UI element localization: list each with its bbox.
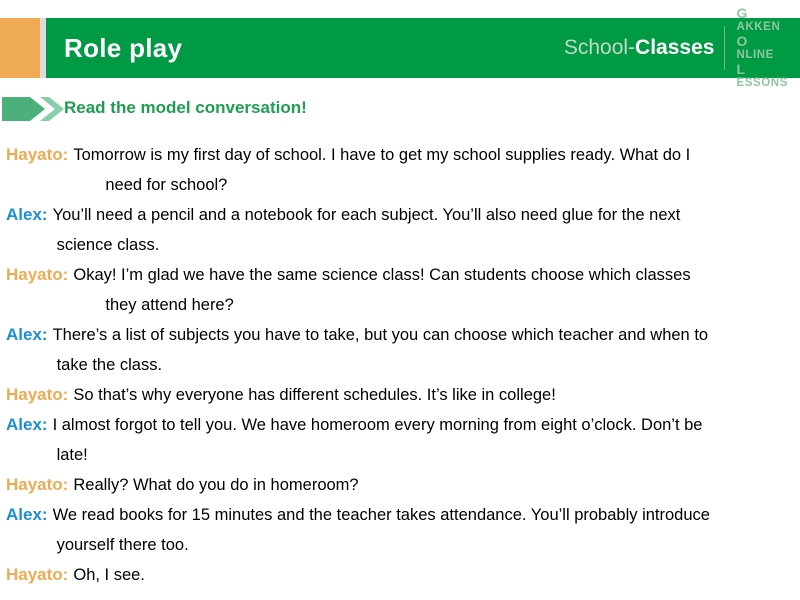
dialogue-line-continued: science class. [53,230,792,260]
dialogue-text: Really? What do you do in homeroom? [73,470,792,500]
page-header: Role play School-Classes GAKKEN ONLINE L… [0,18,800,78]
dialogue-line: You’ll need a pencil and a notebook for … [53,206,681,224]
speaker-label-alex: Alex: [6,500,53,530]
speaker-label-hayato: Hayato: [6,260,73,290]
conversation-block: Hayato:Tomorrow is my first day of schoo… [0,140,800,590]
dialogue-line: There’s a list of subjects you have to t… [53,326,709,344]
speaker-label-hayato: Hayato: [6,140,73,170]
dialogue-line: Really? What do you do in homeroom? [73,476,358,494]
dialogue-turn: Hayato:Okay! I’m glad we have the same s… [0,260,800,320]
dialogue-turn: Hayato:Oh, I see. [0,560,800,590]
speaker-label-alex: Alex: [6,320,53,350]
dialogue-line-continued: take the class. [53,350,792,380]
dialogue-turn: Alex:You’ll need a pencil and a notebook… [0,200,800,260]
speaker-label-alex: Alex: [6,410,53,440]
dialogue-turn: Alex:I almost forgot to tell you. We hav… [0,410,800,470]
brand-block: School-Classes GAKKEN ONLINE LESSONS [564,18,800,78]
logo-line-online: ONLINE [736,34,788,62]
course-prefix: School- [564,36,635,59]
dialogue-text: You’ll need a pencil and a notebook for … [53,200,792,260]
instruction-row: Read the model conversation! [0,93,800,127]
dialogue-turn: Alex:We read books for 15 minutes and th… [0,500,800,560]
page-title: Role play [64,31,182,65]
dialogue-line: Okay! I’m glad we have the same science … [73,266,690,284]
dialogue-text: Okay! I’m glad we have the same science … [73,260,792,320]
dialogue-line-continued: late! [53,440,792,470]
logo-line-gakken: GAKKEN [736,6,788,34]
dialogue-line: Tomorrow is my first day of school. I ha… [73,146,690,164]
course-name: Classes [635,36,714,59]
speaker-label-hayato: Hayato: [6,470,73,500]
dialogue-text: Tomorrow is my first day of school. I ha… [73,140,792,200]
dialogue-line-continued: they attend here? [73,290,792,320]
dialogue-line-continued: yourself there too. [53,530,792,560]
dialogue-text: So that’s why everyone has different sch… [73,380,792,410]
dialogue-text: I almost forgot to tell you. We have hom… [53,410,792,470]
dialogue-text: We read books for 15 minutes and the tea… [53,500,792,560]
dialogue-turn: Hayato:So that’s why everyone has differ… [0,380,800,410]
dialogue-text: Oh, I see. [73,560,792,590]
speaker-label-hayato: Hayato: [6,380,73,410]
header-green-bar: Role play School-Classes GAKKEN ONLINE L… [46,18,800,78]
dialogue-line: I almost forgot to tell you. We have hom… [53,416,703,434]
logo-line-lessons: LESSONS [736,62,788,90]
speaker-label-hayato: Hayato: [6,560,73,590]
dialogue-turn: Alex:There’s a list of subjects you have… [0,320,800,380]
instruction-text: Read the model conversation! [64,94,307,122]
dialogue-line: So that’s why everyone has different sch… [73,386,555,404]
course-label: School-Classes [564,36,725,60]
dialogue-line: We read books for 15 minutes and the tea… [53,506,710,524]
dialogue-line-continued: need for school? [73,170,792,200]
dialogue-turn: Hayato:Really? What do you do in homeroo… [0,470,800,500]
dialogue-text: There’s a list of subjects you have to t… [53,320,792,380]
double-chevron-right-icon [2,93,64,125]
dialogue-line: Oh, I see. [73,566,145,584]
dialogue-turn: Hayato:Tomorrow is my first day of schoo… [0,140,800,200]
header-accent-block [0,18,40,78]
gakken-online-lessons-logo: GAKKEN ONLINE LESSONS [725,6,800,90]
speaker-label-alex: Alex: [6,200,53,230]
